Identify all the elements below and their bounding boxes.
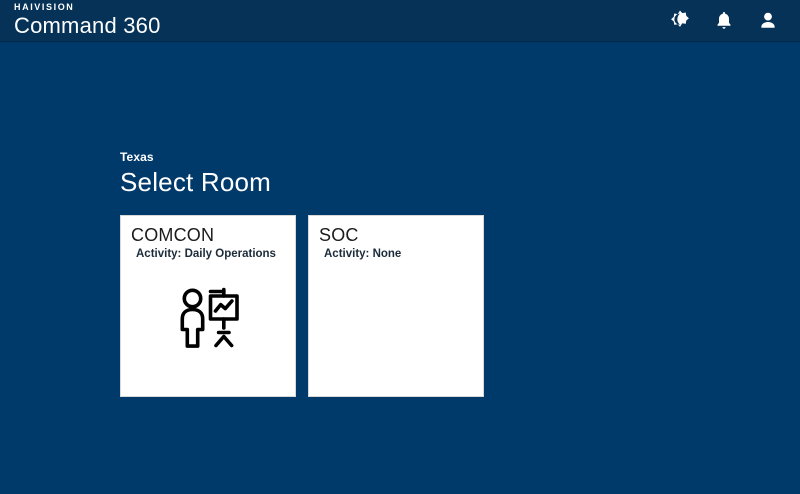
dark-mode-icon[interactable] [668, 9, 692, 33]
brand-eyebrow: HAIVISION [14, 3, 161, 12]
main-content: Texas Select Room COMCON Activity: Daily… [0, 42, 800, 397]
room-name: SOC [319, 225, 473, 246]
presentation-person-icon [131, 262, 285, 396]
room-card[interactable]: COMCON Activity: Daily Operations [120, 215, 296, 397]
room-card[interactable]: SOC Activity: None [308, 215, 484, 397]
room-activity: Activity: None [319, 247, 473, 261]
app-header: HAIVISION Command 360 [0, 0, 800, 42]
room-name: COMCON [131, 225, 285, 246]
notifications-bell-icon[interactable] [712, 9, 736, 33]
app-title: Command 360 [14, 14, 161, 37]
room-grid: COMCON Activity: Daily Operations [120, 215, 800, 397]
room-activity: Activity: Daily Operations [131, 247, 285, 261]
region-label: Texas [120, 150, 800, 164]
account-icon[interactable] [756, 9, 780, 33]
brand: HAIVISION Command 360 [14, 0, 161, 37]
header-actions [668, 0, 786, 42]
page-title: Select Room [120, 167, 800, 198]
